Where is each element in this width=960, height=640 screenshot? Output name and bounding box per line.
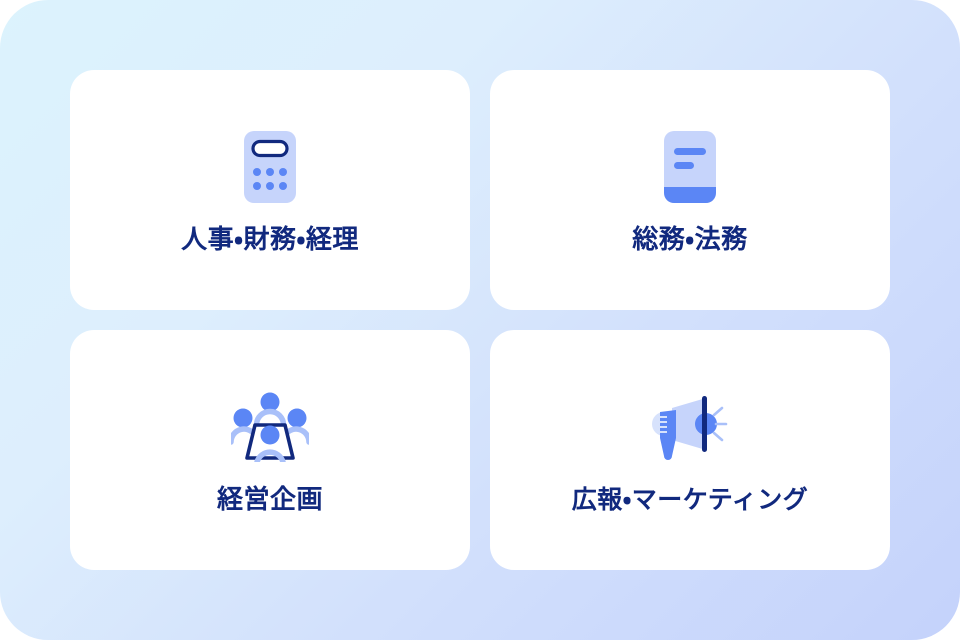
meeting-icon	[220, 384, 320, 470]
department-card-pr-marketing[interactable]: 広報・マーケティング	[490, 330, 890, 570]
department-card-label: 総務・法務	[632, 224, 747, 255]
document-icon	[640, 124, 740, 210]
department-card-hr-finance-accounting[interactable]: 人事・財務・経理	[70, 70, 470, 310]
calculator-icon	[220, 124, 320, 210]
department-card-label: 広報・マーケティング	[572, 485, 809, 515]
department-card-grid: 人事・財務・経理 総務・法務	[70, 70, 890, 570]
department-card-corporate-planning[interactable]: 経営企画	[70, 330, 470, 570]
megaphone-icon	[640, 385, 740, 471]
department-card-general-affairs-legal[interactable]: 総務・法務	[490, 70, 890, 310]
department-card-label: 経営企画	[217, 484, 323, 515]
department-card-label: 人事・財務・経理	[181, 224, 359, 255]
